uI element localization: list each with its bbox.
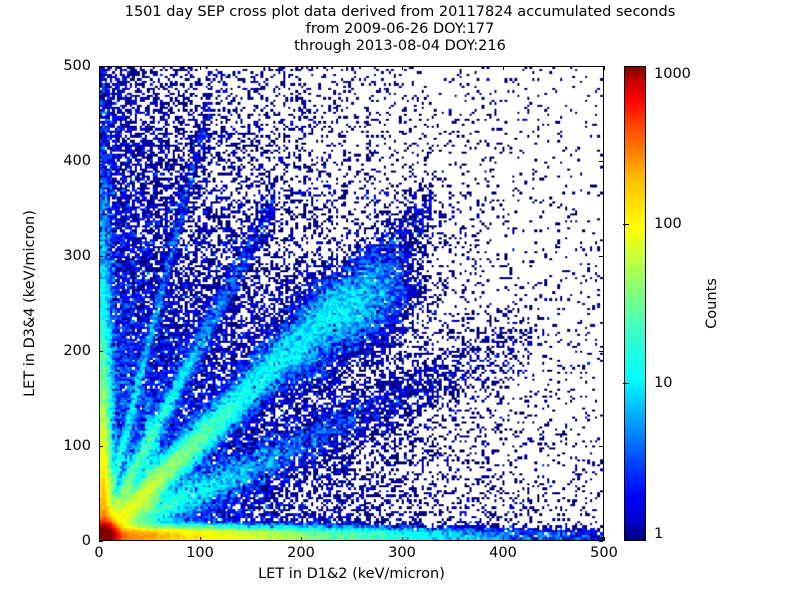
y-tick-mark [99,256,103,257]
y-tick-mark [99,351,103,352]
colorbar-tick-label: 100 [654,216,682,232]
y-tick-mark [99,446,103,447]
y-axis-title: LET in D3&4 (keV/micron) [22,66,42,541]
x-tick-mark [503,66,504,70]
x-tick-label: 400 [489,545,517,561]
y-tick-label: 0 [37,533,91,549]
colorbar-tick-label: 10 [654,375,672,391]
x-tick-mark [503,537,504,541]
y-tick-mark [599,541,603,542]
x-tick-mark [200,537,201,541]
x-tick-label: 300 [388,545,416,561]
x-tick-mark [604,66,605,70]
y-tick-mark [599,446,603,447]
x-tick-mark [402,66,403,70]
title-line-2: from 2009-06-26 DOY:177 [0,21,800,38]
y-tick-label: 400 [37,153,91,169]
x-tick-mark [402,537,403,541]
y-tick-mark [99,66,103,67]
x-tick-label: 100 [186,545,214,561]
figure-canvas: 1501 day SEP cross plot data derived fro… [0,0,800,600]
y-tick-mark [599,256,603,257]
x-tick-label: 500 [590,545,618,561]
x-tick-mark [200,66,201,70]
density-heatmap [100,67,603,540]
title-line-3: through 2013-08-04 DOY:216 [0,38,800,55]
colorbar-title: Counts [704,66,724,541]
colorbar-tick-mark [623,383,629,384]
colorbar-tick-mark [623,224,629,225]
x-axis-title: LET in D1&2 (keV/micron) [99,566,604,582]
y-tick-label: 300 [37,248,91,264]
x-tick-label: 200 [287,545,315,561]
y-tick-mark [99,541,103,542]
x-tick-mark [301,537,302,541]
x-tick-label: 0 [94,545,103,561]
y-tick-mark [599,161,603,162]
y-tick-mark [99,161,103,162]
y-tick-label: 100 [37,438,91,454]
colorbar-tick-label: 1 [654,526,663,542]
x-tick-mark [301,66,302,70]
figure-title: 1501 day SEP cross plot data derived fro… [0,4,800,55]
title-line-1: 1501 day SEP cross plot data derived fro… [0,4,800,21]
x-tick-mark [604,537,605,541]
y-tick-label: 200 [37,343,91,359]
colorbar-tick-label: 1000 [654,66,691,82]
plot-axes-area [99,66,604,541]
y-tick-label: 500 [37,58,91,74]
colorbar-gradient [624,66,646,541]
y-tick-mark [599,66,603,67]
y-tick-mark [599,351,603,352]
colorbar: 1000100101 [624,66,646,541]
